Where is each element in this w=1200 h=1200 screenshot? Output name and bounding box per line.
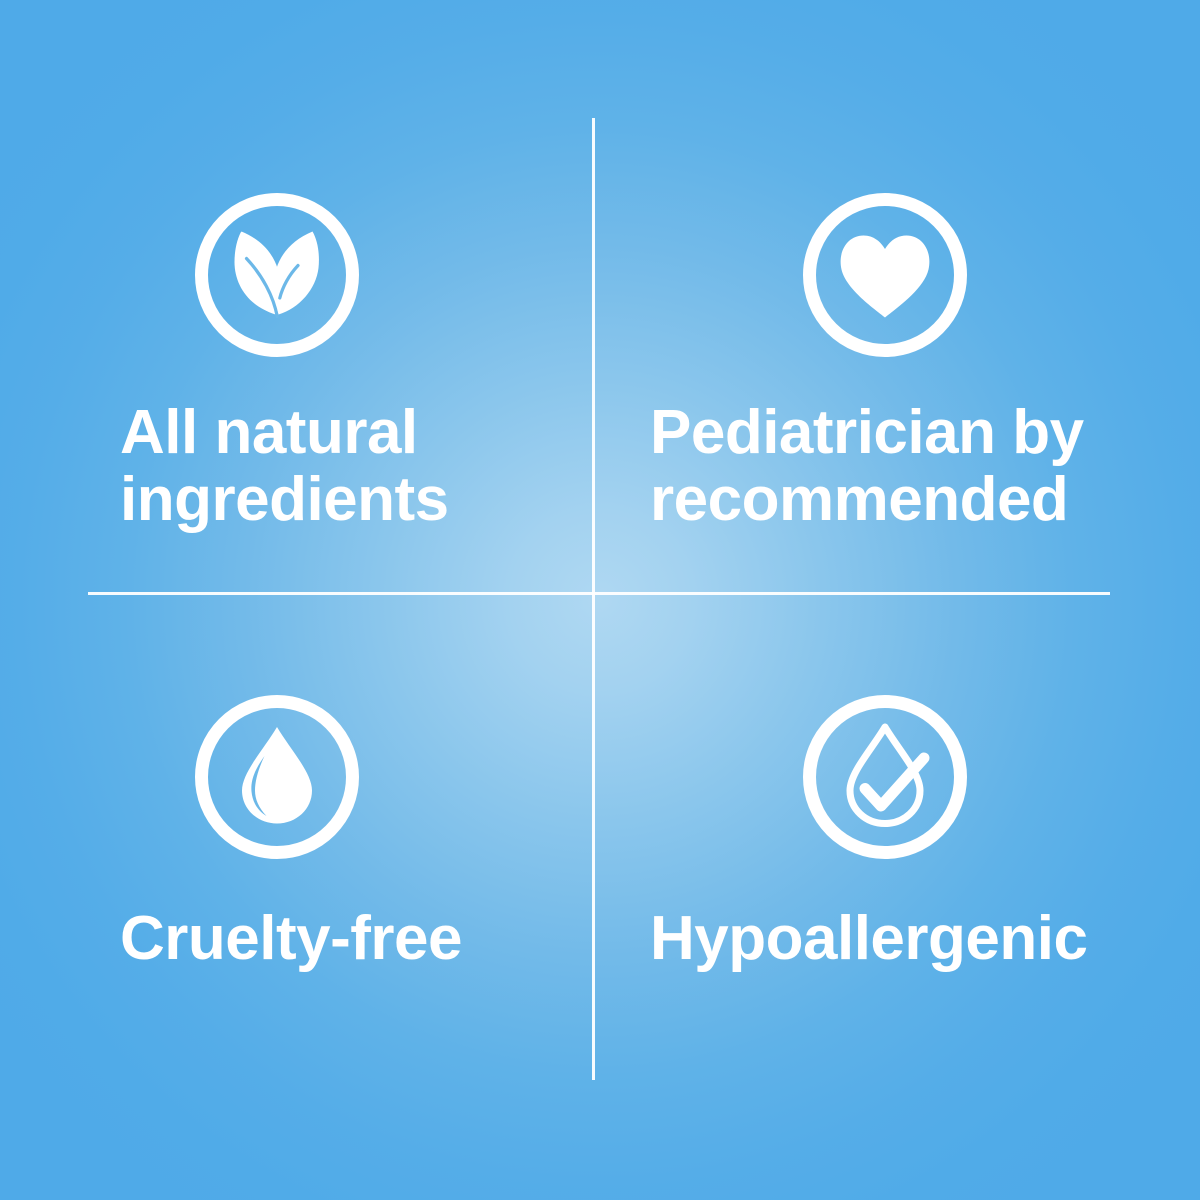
two-leaves-in-circle-icon xyxy=(194,192,360,358)
feature-label-all-natural-ingredients: All natural ingredients xyxy=(120,400,570,534)
droplet-with-checkmark-in-circle-icon xyxy=(802,694,968,860)
feature-label-pediatrician-recommended: Pediatrician by recommended xyxy=(650,400,1130,534)
feature-all-natural-ingredients: All natural ingredients xyxy=(120,192,570,534)
feature-pediatrician-recommended: Pediatrician by recommended xyxy=(650,192,1130,534)
horizontal-divider xyxy=(88,592,1110,595)
water-droplet-in-circle-icon xyxy=(194,694,360,860)
product-feature-badges-panel: All natural ingredients Pediatrician by … xyxy=(0,0,1200,1200)
feature-label-hypoallergenic: Hypoallergenic xyxy=(650,906,1130,973)
feature-label-cruelty-free: Cruelty-free xyxy=(120,906,570,973)
heart-in-circle-icon xyxy=(802,192,968,358)
vertical-divider xyxy=(592,118,595,1080)
feature-cruelty-free: Cruelty-free xyxy=(120,694,570,973)
feature-hypoallergenic: Hypoallergenic xyxy=(650,694,1130,973)
